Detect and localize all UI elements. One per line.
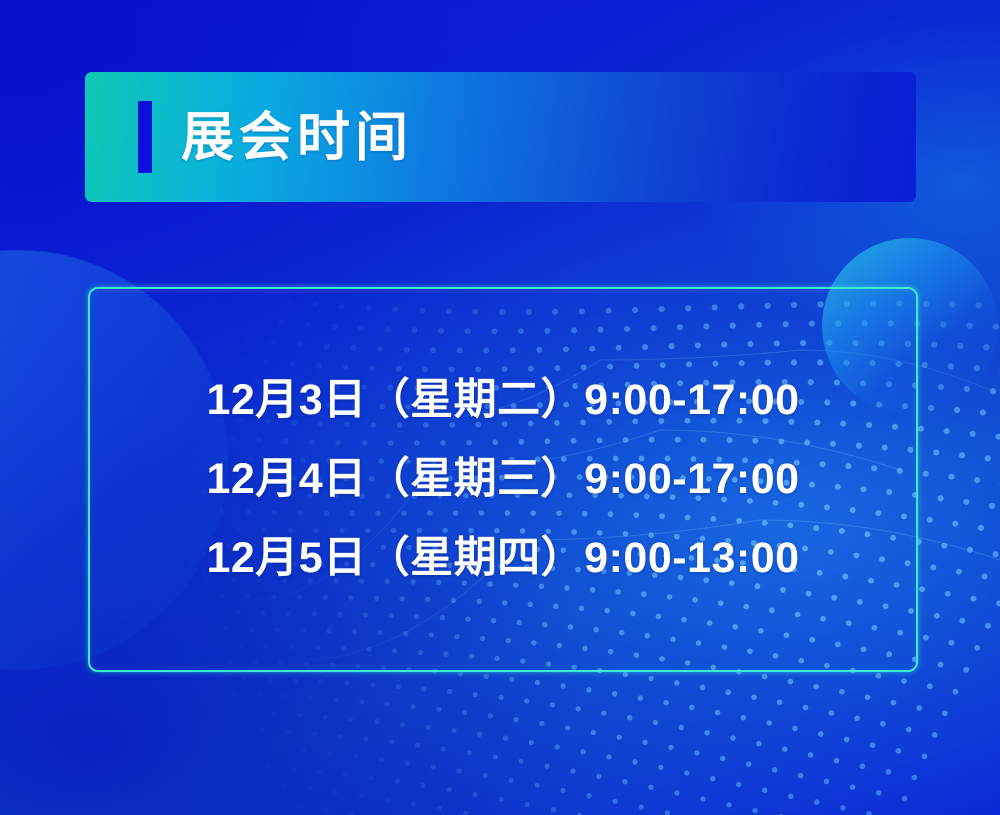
poster-canvas: 展会时间 12月3日（星期二）9:00-17:00 12月4日（星期三）9:00… — [0, 0, 1000, 815]
schedule-frame: 12月3日（星期二）9:00-17:00 12月4日（星期三）9:00-17:0… — [88, 287, 918, 672]
schedule-list: 12月3日（星期二）9:00-17:00 12月4日（星期三）9:00-17:0… — [90, 361, 916, 598]
title-accent-bar — [138, 101, 152, 173]
list-item: 12月3日（星期二）9:00-17:00 — [90, 361, 916, 440]
section-title-bar: 展会时间 — [85, 72, 916, 202]
list-item: 12月4日（星期三）9:00-17:00 — [90, 440, 916, 519]
page-title: 展会时间 — [181, 111, 413, 164]
list-item: 12月5日（星期四）9:00-13:00 — [90, 519, 916, 598]
